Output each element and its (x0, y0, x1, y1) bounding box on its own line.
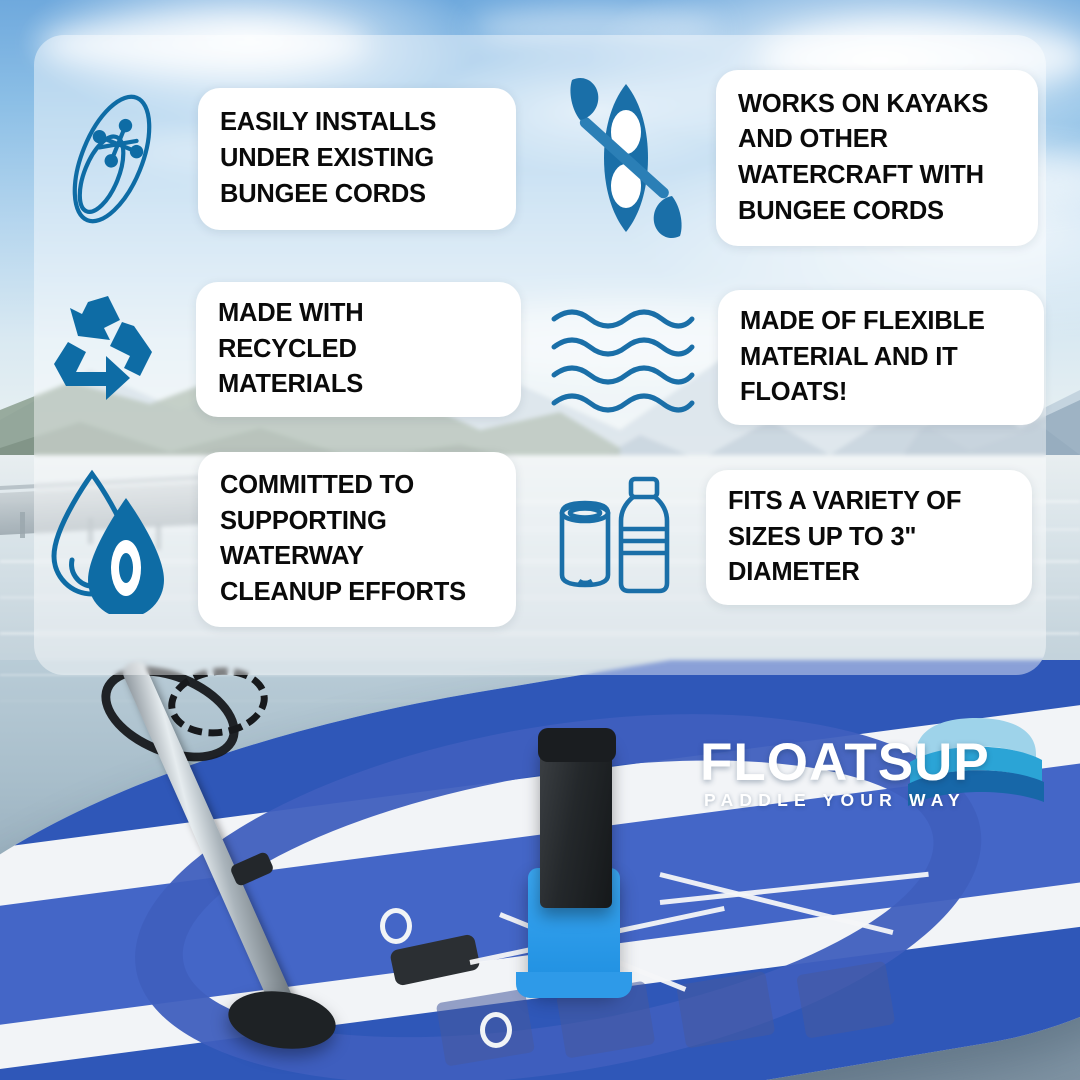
feature-card: MADE OF FLEXIBLE MATERIAL AND IT FLOATS! (718, 290, 1044, 425)
feature-item-easily-installs: EASILY INSTALLS UNDER EXISTING BUNGEE CO… (48, 88, 516, 230)
feature-card: COMMITTED TO SUPPORTING WATERWAY CLEANUP… (198, 452, 516, 627)
logo-tagline: PADDLE YOUR WAY (704, 790, 966, 811)
feature-text: COMMITTED TO SUPPORTING WATERWAY CLEANUP… (220, 468, 466, 611)
feature-text: MADE OF FLEXIBLE MATERIAL AND IT FLOATS! (740, 304, 985, 411)
kayak-paddle-icon (548, 70, 698, 246)
brand-logo: FLOATSUP PADDLE YOUR WAY (700, 726, 1052, 812)
water-drop-icon (48, 464, 176, 614)
bottle-cap (538, 728, 616, 762)
logo-word-sup: SUP (878, 733, 990, 792)
recycle-icon (48, 290, 172, 410)
feature-item-waterway-cleanup: COMMITTED TO SUPPORTING WATERWAY CLEANUP… (48, 452, 516, 627)
feature-item-recycled-materials: MADE WITH RECYCLED MATERIALS (48, 282, 521, 417)
logo-wordmark: FLOATSUP (700, 736, 1052, 789)
water-bottle (540, 738, 612, 908)
feature-card: MADE WITH RECYCLED MATERIALS (196, 282, 521, 417)
can-bottle-icon (548, 473, 688, 603)
feature-card: FITS A VARIETY OF SIZES UP TO 3" DIAMETE… (706, 470, 1032, 605)
feature-card: EASILY INSTALLS UNDER EXISTING BUNGEE CO… (198, 88, 516, 230)
feature-text: FITS A VARIETY OF SIZES UP TO 3" DIAMETE… (728, 484, 961, 591)
feature-item-fits-variety-sizes: FITS A VARIETY OF SIZES UP TO 3" DIAMETE… (548, 470, 1032, 605)
feature-text: WORKS ON KAYAKS AND OTHER WATERCRAFT WIT… (738, 87, 988, 230)
feature-text: MADE WITH RECYCLED MATERIALS (218, 296, 364, 403)
feature-card: WORKS ON KAYAKS AND OTHER WATERCRAFT WIT… (716, 70, 1038, 246)
infographic-canvas: EASILY INSTALLS UNDER EXISTING BUNGEE CO… (0, 0, 1080, 1080)
feature-item-flexible-floats: MADE OF FLEXIBLE MATERIAL AND IT FLOATS! (548, 290, 1044, 425)
waves-icon (548, 303, 698, 413)
paddleboard-icon (48, 89, 176, 229)
logo-word-float: FLOAT (700, 733, 878, 792)
feature-text: EASILY INSTALLS UNDER EXISTING BUNGEE CO… (220, 105, 436, 212)
bottle-holder-base (516, 972, 632, 998)
feature-item-works-on-kayaks: WORKS ON KAYAKS AND OTHER WATERCRAFT WIT… (548, 70, 1038, 246)
